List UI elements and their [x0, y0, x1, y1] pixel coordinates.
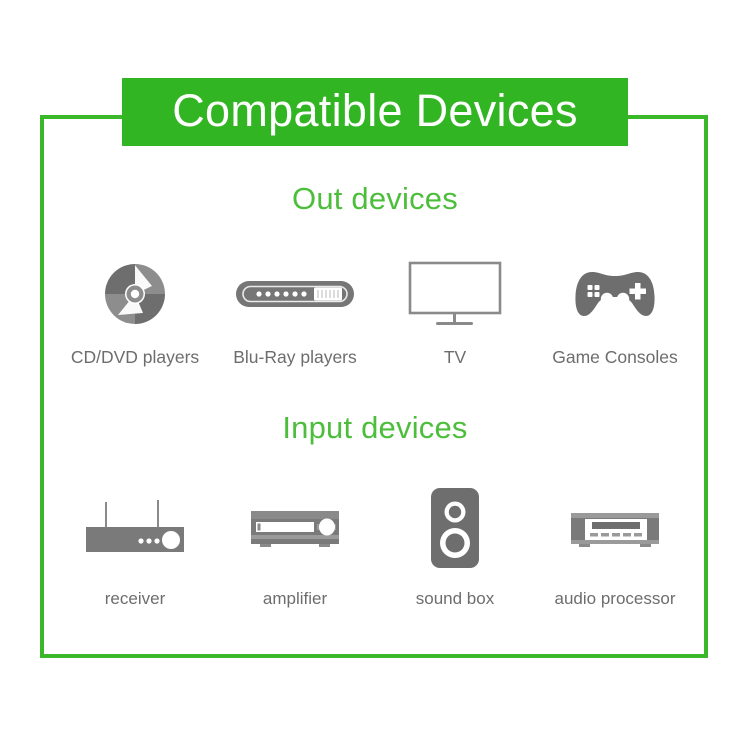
audio-processor-icon — [563, 478, 667, 578]
device-label: Blu-Ray players — [233, 348, 357, 367]
speaker-box-icon — [427, 478, 483, 578]
device-label: TV — [444, 348, 466, 367]
device-label: CD/DVD players — [71, 348, 199, 367]
device-cd-dvd-players: CD/DVD players — [55, 248, 215, 367]
device-sound-box: sound box — [375, 478, 535, 609]
bluray-player-icon — [235, 248, 355, 340]
out-devices-row: CD/DVD players — [55, 248, 695, 367]
tv-monitor-icon — [407, 248, 503, 340]
amplifier-icon — [243, 478, 347, 578]
device-label: receiver — [105, 590, 165, 609]
device-audio-processor: audio processor — [535, 478, 695, 609]
device-receiver: receiver — [55, 478, 215, 609]
section-heading-out-devices: Out devices — [0, 183, 750, 214]
section-heading-input-devices: Input devices — [0, 412, 750, 443]
device-label: sound box — [416, 590, 494, 609]
av-receiver-icon — [80, 478, 190, 578]
page-title: Compatible Devices — [172, 88, 578, 137]
device-label: amplifier — [263, 590, 327, 609]
device-tv: TV — [375, 248, 535, 367]
device-game-consoles: Game Consoles — [535, 248, 695, 367]
game-controller-icon — [572, 248, 658, 340]
device-bluray-players: Blu-Ray players — [215, 248, 375, 367]
device-amplifier: amplifier — [215, 478, 375, 609]
cd-disc-icon — [102, 248, 168, 340]
compatible-devices-poster: Compatible Devices Out devices — [0, 0, 750, 750]
device-label: Game Consoles — [552, 348, 677, 367]
device-label: audio processor — [555, 590, 676, 609]
title-banner: Compatible Devices — [122, 78, 628, 146]
input-devices-row: receiver amplifier — [55, 478, 695, 609]
